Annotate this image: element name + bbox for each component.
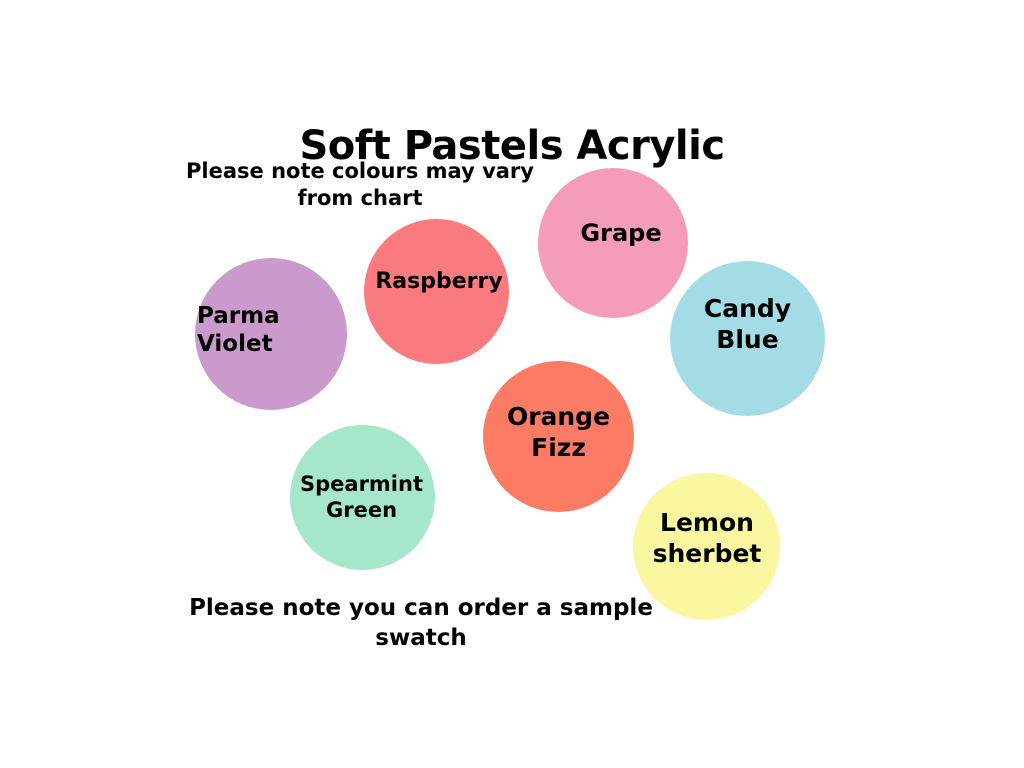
swatch-label-grape: Grape — [566, 219, 676, 248]
swatch-label-raspberry: Raspberry — [364, 269, 514, 296]
sample-swatch-note: Please note you can order a sample swatc… — [176, 594, 666, 654]
swatch-label-candy-blue: Candy Blue — [676, 294, 819, 355]
colour-chart-poster: Soft Pastels Acrylic Please note colours… — [0, 0, 1024, 768]
colour-variation-note: Please note colours may vary from chart — [160, 158, 560, 212]
swatch-label-parma-violet: Parma Violet — [197, 302, 347, 358]
swatch-label-lemon-sherbet: Lemon sherbet — [632, 508, 782, 569]
swatch-label-orange-fizz: Orange Fizz — [487, 402, 630, 463]
swatch-label-spearmint-green: Spearmint Green — [290, 472, 433, 523]
